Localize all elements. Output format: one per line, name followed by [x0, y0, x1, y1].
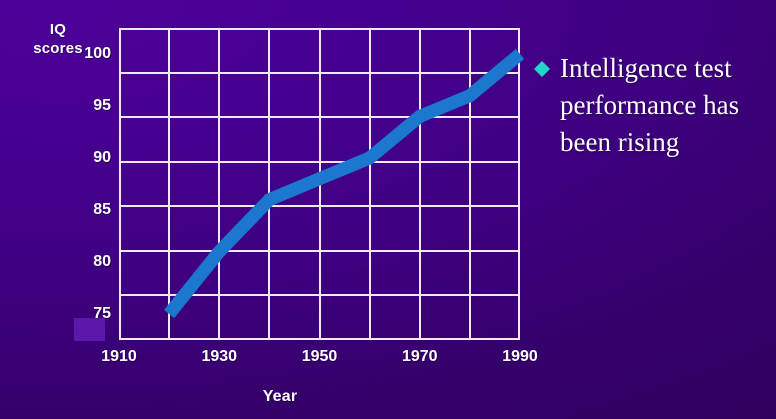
y-axis-tick-labels: 1009590858075	[0, 28, 111, 340]
series-polyline	[169, 54, 520, 314]
y-tick-label: 90	[93, 149, 111, 167]
y-tick-label: 80	[93, 253, 111, 271]
y-tick-label: 95	[93, 97, 111, 115]
x-tick-label: 1930	[201, 348, 237, 366]
x-tick-label: 1910	[101, 348, 137, 366]
slide-canvas: IQ scores 1009590858075 1910193019501970…	[0, 0, 776, 419]
x-tick-label: 1970	[402, 348, 438, 366]
y-tick-label: 100	[84, 45, 111, 63]
legend: Intelligence test performance has been r…	[532, 50, 776, 161]
data-series-line	[119, 28, 520, 340]
x-tick-label: 1990	[502, 348, 538, 366]
legend-label: Intelligence test performance has been r…	[560, 50, 776, 161]
x-tick-label: 1950	[302, 348, 338, 366]
x-axis-title: Year	[0, 388, 560, 406]
y-tick-label: 75	[93, 305, 111, 323]
diamond-bullet-icon	[532, 59, 552, 79]
y-tick-label: 85	[93, 201, 111, 219]
